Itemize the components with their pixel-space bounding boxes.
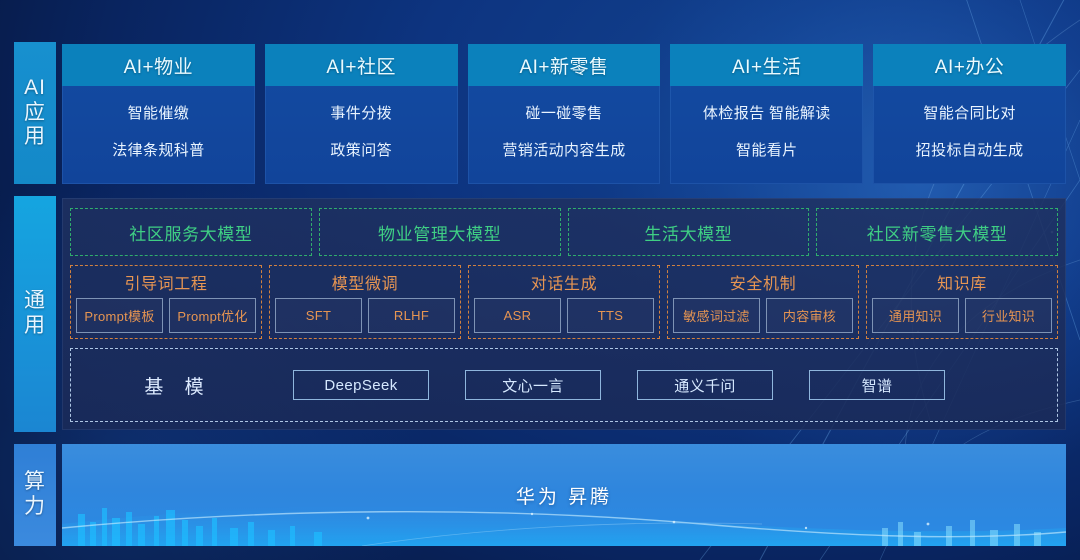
capability-chip[interactable]: TTS	[567, 298, 654, 333]
app-card-feature: 体检报告 智能解读	[703, 102, 831, 123]
app-card-title: AI+办公	[873, 44, 1066, 86]
capability-chip[interactable]: Prompt模板	[76, 298, 163, 333]
rail-item-compute[interactable]: 算 力	[14, 444, 56, 546]
app-card-feature: 智能看片	[736, 139, 798, 160]
app-card-feature: 法律条规科普	[112, 139, 204, 160]
base-model-wenxin[interactable]: 文心一言	[465, 370, 601, 400]
capability-chip[interactable]: 通用知识	[872, 298, 959, 333]
app-card-property[interactable]: AI+物业 智能催缴 法律条规科普	[62, 44, 255, 184]
architecture-diagram: AI 应用 通 用 算 力 AI+物业 智能催缴 法律条规科普 AI+社区 事件…	[0, 0, 1080, 560]
base-model-chips: DeepSeek 文心一言 通义千问 智谱	[293, 370, 1045, 400]
app-card-life[interactable]: AI+生活 体检报告 智能解读 智能看片	[670, 44, 863, 184]
app-card-title: AI+新零售	[468, 44, 661, 86]
app-card-feature: 政策问答	[330, 139, 392, 160]
app-card-title: AI+生活	[670, 44, 863, 86]
capability-knowledge-base[interactable]: 知识库 通用知识 行业知识	[866, 265, 1058, 339]
app-card-feature: 碰一碰零售	[525, 102, 602, 123]
app-card-community[interactable]: AI+社区 事件分拨 政策问答	[265, 44, 458, 184]
app-card-feature: 智能催缴	[128, 102, 190, 123]
app-card-feature: 招投标自动生成	[916, 139, 1024, 160]
capability-model-finetuning[interactable]: 模型微调 SFT RLHF	[269, 265, 461, 339]
app-card-body: 事件分拨 政策问答	[265, 86, 458, 184]
capability-dialogue-generation[interactable]: 对话生成 ASR TTS	[468, 265, 660, 339]
rail-item-general[interactable]: 通 用	[14, 196, 56, 432]
base-model-tongyi[interactable]: 通义千问	[637, 370, 773, 400]
compute-label: 华为 昇腾	[62, 444, 1066, 546]
rail-label-line: 力	[24, 495, 46, 520]
model-box-property-management[interactable]: 物业管理大模型	[319, 208, 561, 256]
rail-label-line: 应用	[14, 101, 56, 151]
rail-label-line: 通	[24, 289, 46, 314]
compute-layer-panel: 华为 昇腾	[62, 444, 1066, 546]
capability-title: 模型微调	[332, 270, 398, 294]
capability-chip[interactable]: ASR	[474, 298, 561, 333]
app-card-body: 智能催缴 法律条规科普	[62, 86, 255, 184]
capability-chip[interactable]: 内容审核	[766, 298, 853, 333]
capability-prompt-engineering[interactable]: 引导词工程 Prompt模板 Prompt优化	[70, 265, 262, 339]
base-model-deepseek[interactable]: DeepSeek	[293, 370, 429, 400]
capability-security-mechanism[interactable]: 安全机制 敏感词过滤 内容审核	[667, 265, 859, 339]
app-card-title: AI+物业	[62, 44, 255, 86]
general-layer-panel: 社区服务大模型 物业管理大模型 生活大模型 社区新零售大模型 引导词工程 Pro…	[62, 198, 1066, 430]
rail-item-ai-application[interactable]: AI 应用	[14, 42, 56, 184]
rail-label-line: AI	[24, 76, 46, 101]
base-model-label: 基 模	[83, 372, 273, 399]
capability-chip[interactable]: 敏感词过滤	[673, 298, 760, 333]
app-card-feature: 事件分拨	[330, 102, 392, 123]
capability-chip[interactable]: 行业知识	[965, 298, 1052, 333]
app-card-feature: 智能合同比对	[923, 102, 1015, 123]
model-box-life[interactable]: 生活大模型	[568, 208, 810, 256]
ai-application-row: AI+物业 智能催缴 法律条规科普 AI+社区 事件分拨 政策问答 AI+新零售…	[62, 44, 1066, 184]
model-box-community-service[interactable]: 社区服务大模型	[70, 208, 312, 256]
model-box-community-new-retail[interactable]: 社区新零售大模型	[816, 208, 1058, 256]
capability-title: 知识库	[937, 270, 987, 294]
capability-chips: ASR TTS	[474, 298, 654, 333]
app-card-title: AI+社区	[265, 44, 458, 86]
capability-chip[interactable]: SFT	[275, 298, 362, 333]
capability-title: 引导词工程	[124, 270, 207, 294]
base-model-row: 基 模 DeepSeek 文心一言 通义千问 智谱	[70, 348, 1058, 422]
app-card-body: 碰一碰零售 营销活动内容生成	[468, 86, 661, 184]
large-model-row: 社区服务大模型 物业管理大模型 生活大模型 社区新零售大模型	[70, 208, 1058, 256]
capability-chips: Prompt模板 Prompt优化	[76, 298, 256, 333]
capability-row: 引导词工程 Prompt模板 Prompt优化 模型微调 SFT RLHF 对话…	[70, 265, 1058, 339]
app-card-new-retail[interactable]: AI+新零售 碰一碰零售 营销活动内容生成	[468, 44, 661, 184]
capability-chip[interactable]: Prompt优化	[169, 298, 256, 333]
app-card-feature: 营销活动内容生成	[502, 139, 625, 160]
capability-chips: 通用知识 行业知识	[872, 298, 1052, 333]
app-card-body: 体检报告 智能解读 智能看片	[670, 86, 863, 184]
capability-title: 对话生成	[531, 270, 597, 294]
rail-label-line: 算	[24, 470, 46, 495]
rail-label-line: 用	[24, 314, 46, 339]
capability-title: 安全机制	[730, 270, 796, 294]
capability-chip[interactable]: RLHF	[368, 298, 455, 333]
app-card-body: 智能合同比对 招投标自动生成	[873, 86, 1066, 184]
capability-chips: SFT RLHF	[275, 298, 455, 333]
capability-chips: 敏感词过滤 内容审核	[673, 298, 853, 333]
app-card-office[interactable]: AI+办公 智能合同比对 招投标自动生成	[873, 44, 1066, 184]
base-model-zhipu[interactable]: 智谱	[809, 370, 945, 400]
